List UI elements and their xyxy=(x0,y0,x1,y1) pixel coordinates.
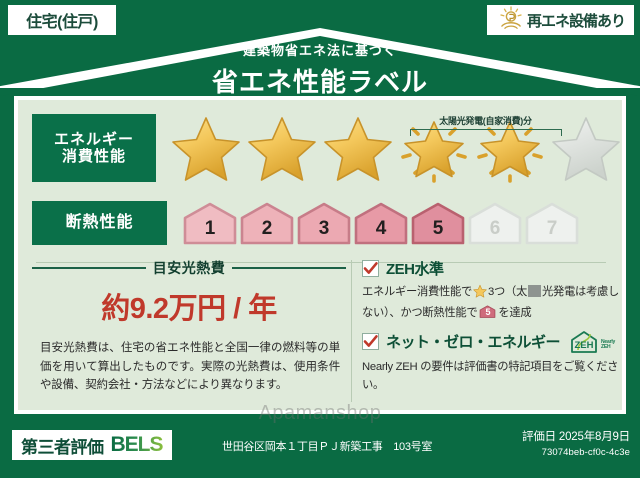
cost-heading: 目安光熱費 xyxy=(32,258,346,278)
grade-badge-5: 5 xyxy=(479,305,496,318)
grade-chevron-3: 3 xyxy=(297,201,351,245)
grade-number: 1 xyxy=(205,218,216,245)
cost-heading-rule-left xyxy=(32,267,146,269)
solar-annotation-text: 太陽光発電(自家消費)分 xyxy=(398,114,573,127)
check-icon xyxy=(362,333,379,350)
bels-logo-text: BELS xyxy=(111,433,163,457)
evaluation-date: 評価日 2025年8月9日 xyxy=(522,428,630,444)
net-zero-energy-body: Nearly ZEH の要件は評価書の特記項目をご覧ください。 xyxy=(362,358,620,395)
zeh-logo-subtext: Nearly ZEH xyxy=(601,340,615,354)
star-icon-3 xyxy=(322,113,394,183)
page-title: 省エネ性能ラベル xyxy=(0,62,640,99)
renewable-energy-chip: 再エネ設備あり xyxy=(487,5,634,35)
energy-label-line2: 消費性能 xyxy=(62,148,126,165)
star-icon-2 xyxy=(246,113,318,183)
zeh-house-logo: ZEH Nearly ZEH xyxy=(569,330,615,354)
grade-chevron-7: 7 xyxy=(525,201,579,245)
energy-performance-row: エネルギー 消費性能 xyxy=(18,106,622,190)
svg-text:ZEH: ZEH xyxy=(575,340,594,351)
estimated-utility-cost-block: 目安光熱費 約9.2万円 / 年 目安光熱費は、住宅の省エネ性能と全国一律の燃料… xyxy=(32,258,346,395)
zeh-body-part4: を達成 xyxy=(498,307,531,319)
zeh-body-part1: エネルギー消費性能で xyxy=(362,286,472,298)
net-zero-energy-item: ネット・ゼロ・エネルギー ZEH Nearly ZEH xyxy=(362,330,620,395)
grade-number: 4 xyxy=(376,218,387,245)
grade-chevron-1: 1 xyxy=(183,201,237,245)
housing-type-label: 住宅(住戸) xyxy=(26,8,98,32)
zeh-logo-sub-line2: ZEH xyxy=(601,344,610,350)
vertical-divider xyxy=(351,260,352,402)
insulation-label: 断熱性能 xyxy=(65,214,133,232)
grade-badge-number: 5 xyxy=(479,305,496,318)
grade-number: 3 xyxy=(319,218,330,245)
net-zero-energy-title: ネット・ゼロ・エネルギー xyxy=(386,331,560,352)
grade-number: 5 xyxy=(433,218,444,245)
energy-performance-label-box: エネルギー 消費性能 xyxy=(32,114,156,182)
zeh-standard-title: ZEH水準 xyxy=(386,258,444,279)
solar-generation-annotation: 太陽光発電(自家消費)分 xyxy=(398,114,573,136)
content-card-border: エネルギー 消費性能 xyxy=(14,96,626,414)
insulation-grade-scale: 1 2 3 xyxy=(183,201,579,245)
title-subtitle: 建築物省エネ法に基づく xyxy=(0,40,640,59)
housing-type-chip: 住宅(住戸) xyxy=(8,5,116,35)
redacted-char xyxy=(528,285,541,297)
evaluation-id: 73074beb-cf0c-4c3e xyxy=(522,447,630,458)
evaluation-meta: 評価日 2025年8月9日 73074beb-cf0c-4c3e xyxy=(522,428,630,458)
zeh-standard-heading: ZEH水準 xyxy=(362,258,620,279)
cost-disclaimer: 目安光熱費は、住宅の省エネ性能と全国一律の燃料等の単価を用いて算出したものです。… xyxy=(32,339,346,395)
renewable-energy-label: 再エネ設備あり xyxy=(527,10,625,31)
zeh-claims-column: ZEH水準 エネルギー消費性能で3つ（太光発電は考慮しない）、かつ断熱性能で5を… xyxy=(362,258,620,401)
sun-energy-icon xyxy=(498,6,524,35)
energy-performance-label: 住宅(住戸) 再エネ設備あり 建築物省エネ法に基づく 省エネ性能ラベル xyxy=(0,0,640,478)
zeh-standard-body: エネルギー消費性能で3つ（太光発電は考慮しない）、かつ断熱性能で5を達成 xyxy=(362,283,620,323)
grade-number: 2 xyxy=(262,218,273,245)
net-zero-energy-heading: ネット・ゼロ・エネルギー ZEH Nearly ZEH xyxy=(362,330,620,354)
grade-chevron-4: 4 xyxy=(354,201,408,245)
content-card: エネルギー 消費性能 xyxy=(18,100,622,410)
footer: 第三者評価 BELS 世田谷区岡本１丁目ＰＪ新築工事 103号室 評価日 202… xyxy=(0,418,640,478)
grade-chevron-5: 5 xyxy=(411,201,465,245)
zeh-standard-item: ZEH水準 エネルギー消費性能で3つ（太光発電は考慮しない）、かつ断熱性能で5を… xyxy=(362,258,620,323)
grade-number: 6 xyxy=(490,218,501,245)
insulation-performance-row: 断熱性能 1 2 xyxy=(18,196,622,250)
check-icon xyxy=(362,260,379,277)
label-title-block: 建築物省エネ法に基づく 省エネ性能ラベル xyxy=(0,40,640,99)
star-icon xyxy=(473,289,487,301)
grade-chevron-6: 6 xyxy=(468,201,522,245)
property-address: 世田谷区岡本１丁目ＰＪ新築工事 103号室 xyxy=(222,438,432,454)
cost-heading-text: 目安光熱費 xyxy=(153,258,226,278)
bels-japanese-label: 第三者評価 xyxy=(21,433,104,458)
cost-value: 約9.2万円 / 年 xyxy=(32,285,346,327)
zeh-body-part2: 3つ（太 xyxy=(488,286,527,298)
cost-heading-rule-right xyxy=(232,267,346,269)
insulation-performance-label-box: 断熱性能 xyxy=(32,201,167,245)
grade-number: 7 xyxy=(547,218,558,245)
solar-bracket xyxy=(410,129,562,136)
grade-chevron-2: 2 xyxy=(240,201,294,245)
star-icon-1 xyxy=(170,113,242,183)
energy-label-line1: エネルギー xyxy=(54,131,134,148)
bels-badge: 第三者評価 BELS xyxy=(12,430,172,460)
